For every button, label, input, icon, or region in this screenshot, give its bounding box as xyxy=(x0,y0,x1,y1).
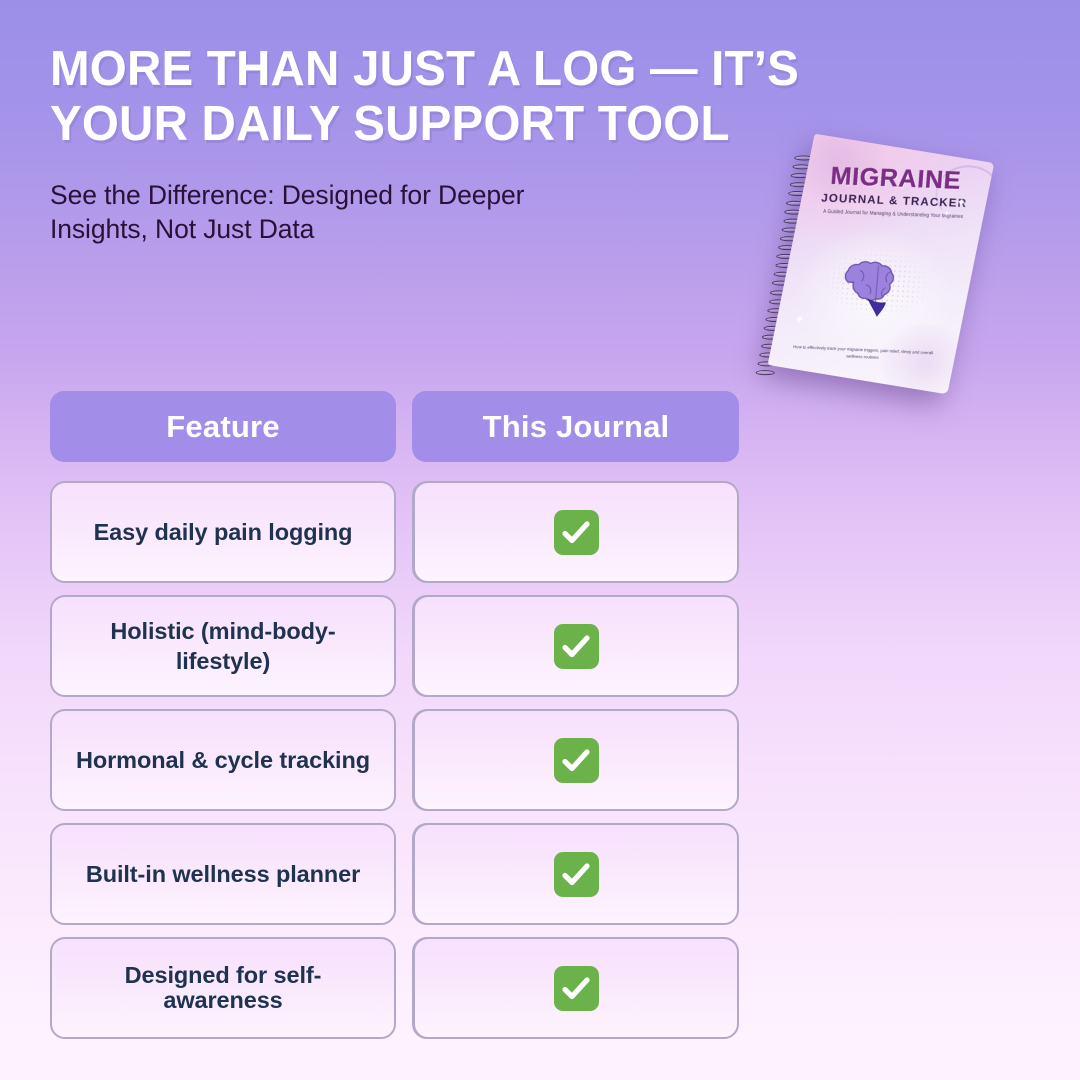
cover-illustration xyxy=(802,234,952,332)
feature-label: Easy daily pain logging xyxy=(94,517,353,547)
table-row: Built-in wellness planner xyxy=(50,823,1030,925)
this-journal-check-icon xyxy=(554,624,599,669)
table-header-row: Feature Regular Tracking This Journal xyxy=(50,391,1030,462)
feature-label: Designed for self-awareness xyxy=(68,963,378,1014)
table-row: Hormonal & cycle tracking xyxy=(50,709,1030,811)
this-journal-cell xyxy=(413,823,739,925)
this-journal-cell xyxy=(413,481,739,583)
feature-cell: Designed for self-awareness xyxy=(50,937,396,1039)
this-journal-cell xyxy=(413,595,739,697)
feature-label: Hormonal & cycle tracking xyxy=(76,745,370,775)
product-mockup: MIGRAINE JOURNAL & TRACKER A Guided Jour… xyxy=(766,138,1036,393)
this-journal-check-icon xyxy=(554,966,599,1011)
feature-label: Holistic (mind-body-lifestyle) xyxy=(68,616,378,676)
table-body: Easy daily pain loggingHolistic (mind-bo… xyxy=(50,481,1030,1039)
feature-cell: Built-in wellness planner xyxy=(50,823,396,925)
brain-icon xyxy=(829,246,926,322)
feature-label: Built-in wellness planner xyxy=(86,859,360,889)
this-journal-check-icon xyxy=(554,510,599,555)
page-title: MORE THAN JUST A LOG — IT’S YOUR DAILY S… xyxy=(50,42,865,152)
this-journal-check-icon xyxy=(554,852,599,897)
table-row: Holistic (mind-body-lifestyle)Rarely add… xyxy=(50,595,1030,697)
column-header-this-journal: This Journal xyxy=(413,391,739,462)
column-header-feature: Feature xyxy=(50,391,396,462)
cover-title: MIGRAINE xyxy=(818,162,973,197)
this-journal-cell xyxy=(413,709,739,811)
page-subtitle: See the Difference: Designed for Deeper … xyxy=(50,178,550,247)
feature-cell: Holistic (mind-body-lifestyle) xyxy=(50,595,396,697)
comparison-table: Feature Regular Tracking This Journal Ea… xyxy=(50,391,1030,1051)
feature-cell: Hormonal & cycle tracking xyxy=(50,709,396,811)
spiral-ring xyxy=(756,371,775,376)
table-row: Easy daily pain logging xyxy=(50,481,1030,583)
table-row: Designed for self-awareness xyxy=(50,937,1030,1039)
feature-cell: Easy daily pain logging xyxy=(50,481,396,583)
this-journal-check-icon xyxy=(554,738,599,783)
this-journal-cell xyxy=(413,937,739,1039)
